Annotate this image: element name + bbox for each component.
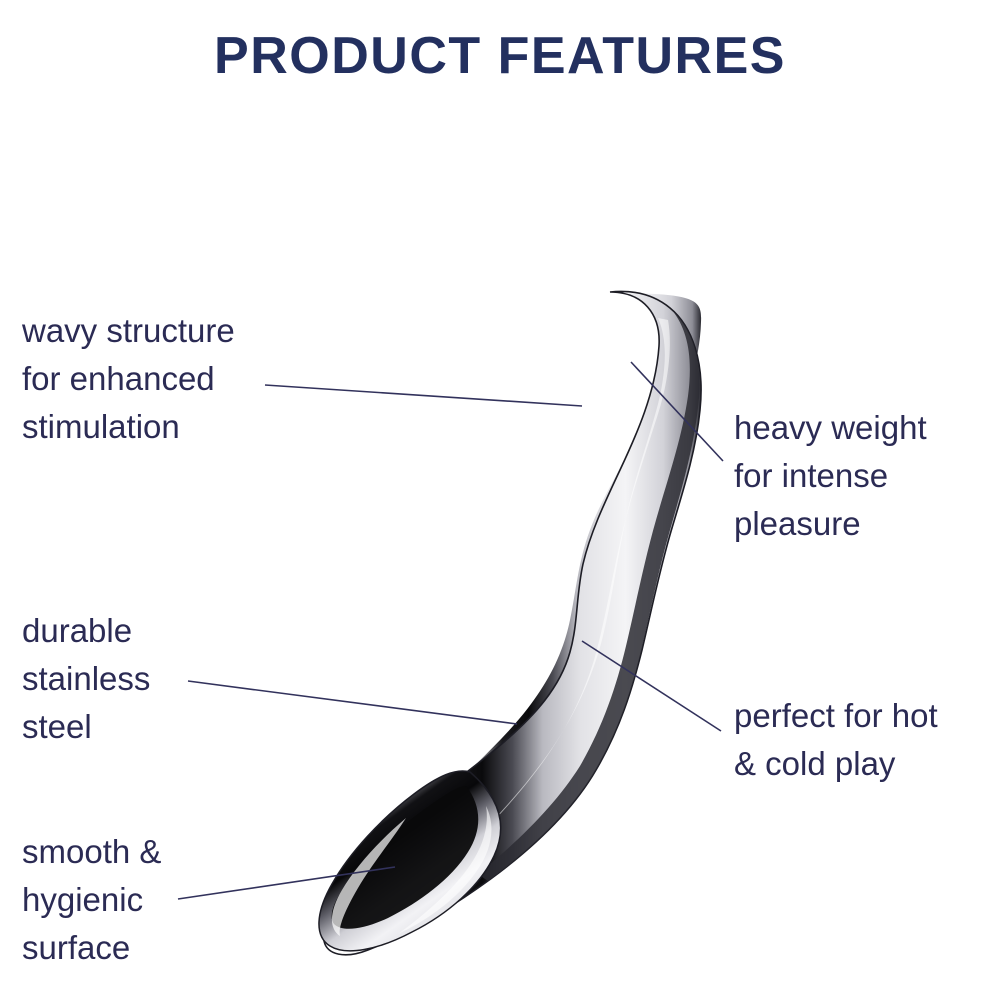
product-bottom-tip [319, 771, 501, 951]
callout-label-durable-stainless-steel: durable stainless steel [22, 607, 282, 751]
callout-label-smooth-hygienic-surface: smooth & hygienic surface [22, 828, 282, 972]
tip-highlight [585, 294, 626, 366]
callout-label-hot-cold-play: perfect for hot & cold play [734, 692, 994, 788]
callout-label-heavy-weight: heavy weight for intense pleasure [734, 404, 994, 548]
product-features-infographic: PRODUCT FEATURES [0, 0, 1000, 1000]
callout-label-wavy-structure: wavy structure for enhanced stimulation [22, 307, 322, 451]
